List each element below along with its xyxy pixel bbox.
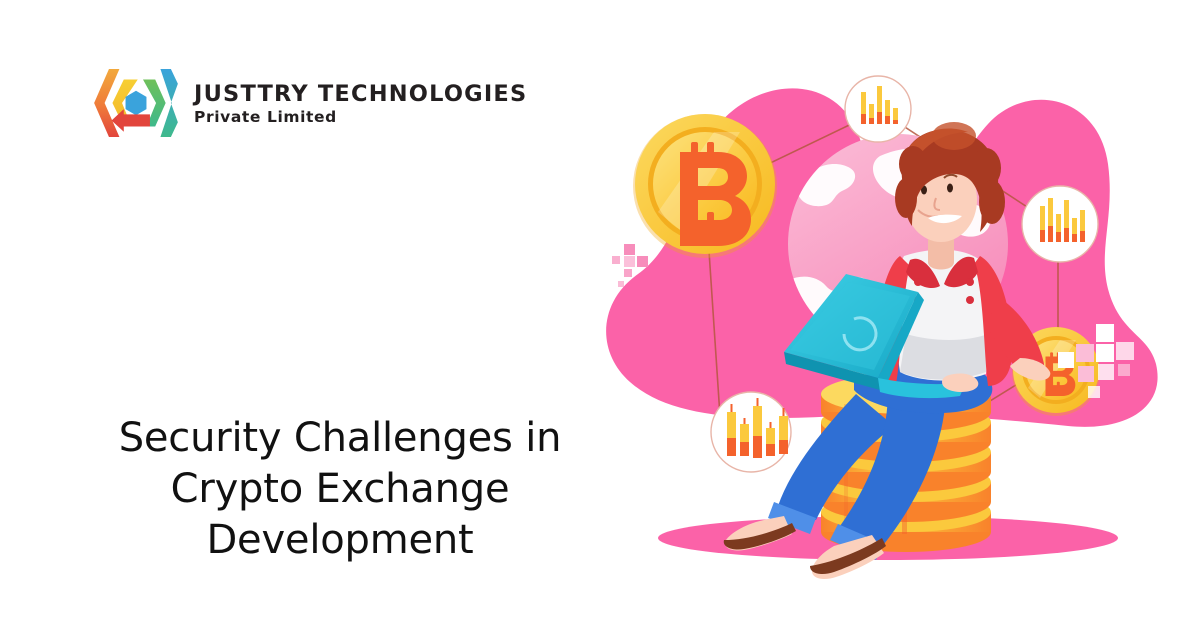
justtry-hexagon-logo-mark-icon bbox=[92, 62, 180, 144]
chart-bubble-top bbox=[845, 76, 911, 142]
chart-bubble-left bbox=[711, 392, 791, 472]
crypto-trader-woman-illustration bbox=[588, 34, 1188, 594]
page-title: Security Challenges in Crypto Exchange D… bbox=[60, 413, 620, 567]
company-logo[interactable]: JUSTTRY TECHNOLOGIES Private Limited bbox=[92, 62, 527, 144]
title-line-2: Crypto Exchange bbox=[171, 466, 510, 512]
bitcoin-coin-large bbox=[633, 114, 777, 258]
title-line-3: Development bbox=[206, 517, 473, 563]
banner-canvas: JUSTTRY TECHNOLOGIES Private Limited Sec… bbox=[0, 0, 1200, 628]
company-suffix: Private Limited bbox=[194, 110, 527, 126]
title-line-1: Security Challenges in bbox=[119, 415, 562, 461]
chart-bubble-right bbox=[1022, 186, 1098, 262]
company-name: JUSTTRY TECHNOLOGIES bbox=[194, 83, 527, 106]
